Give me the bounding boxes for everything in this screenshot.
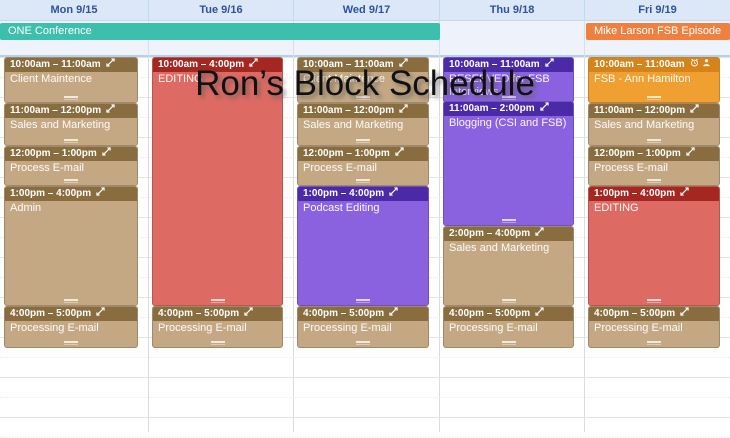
event-resize-handle[interactable] bbox=[647, 179, 661, 183]
event-header: 10:00am – 11:00am bbox=[589, 58, 719, 72]
event-time: 4:00pm – 5:00pm bbox=[10, 307, 91, 321]
recurring-icon bbox=[399, 104, 408, 118]
event-time: 11:00am – 12:00pm bbox=[10, 104, 101, 118]
event-icon-group bbox=[102, 147, 111, 161]
event-time: 10:00am – 11:00am bbox=[594, 58, 685, 72]
event-header: 4:00pm – 5:00pm bbox=[444, 307, 573, 321]
calendar-event-thu-reserved-fsb-interviews[interactable]: 10:00am – 11:00amRESERVED for FSB Interv… bbox=[443, 57, 574, 103]
recurring-icon bbox=[680, 187, 689, 201]
calendar-event-mon-processing-email[interactable]: 4:00pm – 5:00pmProcessing E-mail bbox=[4, 306, 138, 348]
day-header-3[interactable]: Thu 9/18 bbox=[439, 0, 584, 20]
event-resize-handle[interactable] bbox=[64, 341, 78, 345]
event-title: Processing E-mail bbox=[5, 321, 137, 335]
event-title: Blogging (CSI and FSB) bbox=[444, 116, 573, 130]
calendar-event-wed-process-email[interactable]: 12:00pm – 1:00pmProcess E-mail bbox=[297, 146, 429, 186]
event-title: Processing E-mail bbox=[589, 321, 719, 335]
event-time: 10:00am – 11:00am bbox=[449, 58, 540, 72]
calendar-event-tue-editing[interactable]: 10:00am – 4:00pmEDITING bbox=[152, 57, 283, 306]
event-resize-handle[interactable] bbox=[356, 139, 370, 143]
event-icon-group bbox=[680, 187, 689, 201]
event-time: 10:00am – 4:00pm bbox=[158, 58, 244, 72]
event-icon-group bbox=[540, 102, 549, 116]
day-header-label: Fri 9/19 bbox=[638, 4, 677, 16]
event-time: 1:00pm – 4:00pm bbox=[594, 187, 675, 201]
calendar-event-mon-client-maintence[interactable]: 10:00am – 11:00amClient Maintence bbox=[4, 57, 138, 103]
event-resize-handle[interactable] bbox=[64, 96, 78, 100]
day-header-row: Mon 9/15Tue 9/16Wed 9/17Thu 9/18Fri 9/19 bbox=[0, 0, 730, 21]
half-hour-gridline bbox=[0, 397, 730, 398]
calendar-event-mon-sales-and-marketing[interactable]: 11:00am – 12:00pmSales and Marketing bbox=[4, 103, 138, 146]
event-resize-handle[interactable] bbox=[64, 299, 78, 303]
event-resize-handle[interactable] bbox=[647, 139, 661, 143]
event-header: 4:00pm – 5:00pm bbox=[153, 307, 282, 321]
event-icon-group bbox=[389, 187, 398, 201]
event-header: 4:00pm – 5:00pm bbox=[298, 307, 428, 321]
time-grid: 10:00am – 11:00amClient Maintence11:00am… bbox=[0, 57, 730, 432]
event-time: 11:00am – 12:00pm bbox=[594, 104, 685, 118]
day-header-4[interactable]: Fri 9/19 bbox=[584, 0, 730, 20]
event-icon-group bbox=[545, 58, 554, 72]
event-time: 10:00am – 11:00am bbox=[10, 58, 101, 72]
event-title: Sales and Marketing bbox=[5, 118, 137, 132]
day-header-label: Thu 9/18 bbox=[490, 4, 535, 16]
event-resize-handle[interactable] bbox=[64, 179, 78, 183]
event-resize-handle[interactable] bbox=[647, 341, 661, 345]
event-icon-group bbox=[690, 104, 699, 118]
event-title: Process E-mail bbox=[589, 161, 719, 175]
calendar-event-fri-sales-and-marketing[interactable]: 11:00am – 12:00pmSales and Marketing bbox=[588, 103, 720, 146]
event-time: 4:00pm – 5:00pm bbox=[449, 307, 530, 321]
alarm-clock-icon bbox=[690, 58, 699, 72]
week-calendar: Mon 9/15Tue 9/16Wed 9/17Thu 9/18Fri 9/19… bbox=[0, 0, 730, 432]
event-resize-handle[interactable] bbox=[64, 139, 78, 143]
day-header-label: Tue 9/16 bbox=[199, 4, 242, 16]
event-header: 4:00pm – 5:00pm bbox=[589, 307, 719, 321]
event-time: 12:00pm – 1:00pm bbox=[594, 147, 681, 161]
event-title: Podcast Editing bbox=[298, 201, 428, 215]
event-title: Sales and Marketing bbox=[444, 241, 573, 255]
event-time: 1:00pm – 4:00pm bbox=[303, 187, 384, 201]
event-time: 12:00pm – 1:00pm bbox=[10, 147, 97, 161]
event-header: 11:00am – 12:00pm bbox=[589, 104, 719, 118]
recurring-icon bbox=[535, 227, 544, 241]
event-time: 12:00pm – 1:00pm bbox=[303, 147, 390, 161]
all-day-band: ONE ConferenceMike Larson FSB Episode bbox=[0, 21, 730, 57]
event-icon-group bbox=[680, 307, 689, 321]
day-header-2[interactable]: Wed 9/17 bbox=[293, 0, 439, 20]
event-title: Client Maintence bbox=[5, 72, 137, 86]
event-resize-handle[interactable] bbox=[356, 299, 370, 303]
event-icon-group bbox=[249, 58, 258, 72]
event-header: 1:00pm – 4:00pm bbox=[298, 187, 428, 201]
event-icon-group bbox=[690, 58, 711, 72]
recurring-icon bbox=[106, 104, 115, 118]
event-time: 11:00am – 12:00pm bbox=[303, 104, 394, 118]
event-title: Processing E-mail bbox=[444, 321, 573, 335]
event-resize-handle[interactable] bbox=[502, 299, 516, 303]
event-resize-handle[interactable] bbox=[502, 219, 516, 223]
event-resize-handle[interactable] bbox=[647, 96, 661, 100]
hour-gridline bbox=[0, 377, 730, 378]
calendar-event-fri-fsb-ann-hamilton[interactable]: 10:00am – 11:00amFSB - Ann Hamilton bbox=[588, 57, 720, 103]
event-header: 1:00pm – 4:00pm bbox=[589, 187, 719, 201]
event-header: 12:00pm – 1:00pm bbox=[589, 147, 719, 161]
event-header: 2:00pm – 4:00pm bbox=[444, 227, 573, 241]
event-time: 11:00am – 2:00pm bbox=[449, 102, 535, 116]
day-header-0[interactable]: Mon 9/15 bbox=[0, 0, 148, 20]
event-icon-group bbox=[96, 307, 105, 321]
event-icon-group bbox=[244, 307, 253, 321]
recurring-icon bbox=[102, 147, 111, 161]
event-time: 4:00pm – 5:00pm bbox=[158, 307, 239, 321]
recurring-icon bbox=[96, 307, 105, 321]
event-resize-handle[interactable] bbox=[356, 96, 370, 100]
all-day-event-label: ONE Conference bbox=[8, 25, 92, 37]
event-time: 4:00pm – 5:00pm bbox=[303, 307, 384, 321]
calendar-event-fri-process-email[interactable]: 12:00pm – 1:00pmProcess E-mail bbox=[588, 146, 720, 186]
recurring-icon bbox=[690, 104, 699, 118]
event-title: EDITING bbox=[589, 201, 719, 215]
event-header: 1:00pm – 4:00pm bbox=[5, 187, 137, 201]
calendar-event-thu-blogging[interactable]: 11:00am – 2:00pmBlogging (CSI and FSB) bbox=[443, 101, 574, 226]
event-resize-handle[interactable] bbox=[211, 341, 225, 345]
event-header: 4:00pm – 5:00pm bbox=[5, 307, 137, 321]
event-title: Process E-mail bbox=[298, 161, 428, 175]
recurring-icon bbox=[244, 307, 253, 321]
recurring-icon bbox=[680, 307, 689, 321]
event-time: 4:00pm – 5:00pm bbox=[594, 307, 675, 321]
event-title: Sales and Marketing bbox=[589, 118, 719, 132]
recurring-icon bbox=[96, 187, 105, 201]
calendar-event-fri-editing[interactable]: 1:00pm – 4:00pmEDITING bbox=[588, 186, 720, 306]
event-icon-group bbox=[535, 227, 544, 241]
all-day-event-one-conference[interactable]: ONE Conference bbox=[0, 23, 440, 40]
all-day-event-label: Mike Larson FSB Episode bbox=[594, 25, 721, 37]
event-icon-group bbox=[96, 187, 105, 201]
calendar-event-wed-processing-email[interactable]: 4:00pm – 5:00pmProcessing E-mail bbox=[297, 306, 429, 348]
calendar-event-fri-processing-email[interactable]: 4:00pm – 5:00pmProcessing E-mail bbox=[588, 306, 720, 348]
day-header-label: Wed 9/17 bbox=[343, 4, 391, 16]
all-day-event-mike-larson-fsb-episode[interactable]: Mike Larson FSB Episode bbox=[586, 23, 730, 40]
recurring-icon bbox=[540, 102, 549, 116]
event-header: 12:00pm – 1:00pm bbox=[5, 147, 137, 161]
event-header: 11:00am – 2:00pm bbox=[444, 102, 573, 116]
event-header: 10:00am – 11:00am bbox=[298, 58, 428, 72]
half-hour-gridline bbox=[0, 357, 730, 358]
event-resize-handle[interactable] bbox=[356, 179, 370, 183]
calendar-event-mon-process-email[interactable]: 12:00pm – 1:00pmProcess E-mail bbox=[4, 146, 138, 186]
event-title: RESERVED for FSB Interviews bbox=[444, 72, 573, 99]
event-resize-handle[interactable] bbox=[502, 96, 516, 100]
calendar-event-wed-sales-and-marketing[interactable]: 11:00am – 12:00pmSales and Marketing bbox=[297, 103, 429, 146]
recurring-icon bbox=[249, 58, 258, 72]
event-header: 10:00am – 11:00am bbox=[5, 58, 137, 72]
calendar-event-thu-sales-and-marketing[interactable]: 2:00pm – 4:00pmSales and Marketing bbox=[443, 226, 574, 306]
event-time: 1:00pm – 4:00pm bbox=[10, 187, 91, 201]
day-header-1[interactable]: Tue 9/16 bbox=[148, 0, 293, 20]
calendar-event-thu-processing-email[interactable]: 4:00pm – 5:00pmProcessing E-mail bbox=[443, 306, 574, 348]
event-header: 12:00pm – 1:00pm bbox=[298, 147, 428, 161]
event-icon-group bbox=[106, 104, 115, 118]
event-header: 11:00am – 12:00pm bbox=[298, 104, 428, 118]
event-header: 11:00am – 12:00pm bbox=[5, 104, 137, 118]
event-title: Client Maintence bbox=[298, 72, 428, 86]
calendar-event-wed-client-maintence[interactable]: 10:00am – 11:00amClient Maintence bbox=[297, 57, 429, 103]
recurring-icon bbox=[389, 187, 398, 201]
recurring-icon bbox=[389, 307, 398, 321]
event-icon-group bbox=[395, 147, 404, 161]
calendar-event-wed-podcast-editing[interactable]: 1:00pm – 4:00pmPodcast Editing bbox=[297, 186, 429, 306]
recurring-icon bbox=[399, 58, 408, 72]
recurring-icon bbox=[535, 307, 544, 321]
event-title: EDITING bbox=[153, 72, 282, 86]
event-time: 2:00pm – 4:00pm bbox=[449, 227, 530, 241]
event-title: Processing E-mail bbox=[153, 321, 282, 335]
hour-gridline bbox=[0, 417, 730, 418]
event-icon-group bbox=[686, 147, 695, 161]
recurring-icon bbox=[545, 58, 554, 72]
event-resize-handle[interactable] bbox=[647, 299, 661, 303]
event-header: 10:00am – 4:00pm bbox=[153, 58, 282, 72]
event-title: Sales and Marketing bbox=[298, 118, 428, 132]
event-icon-group bbox=[535, 307, 544, 321]
event-title: Process E-mail bbox=[5, 161, 137, 175]
event-icon-group bbox=[389, 307, 398, 321]
recurring-icon bbox=[106, 58, 115, 72]
calendar-event-mon-admin[interactable]: 1:00pm – 4:00pmAdmin bbox=[4, 186, 138, 306]
event-resize-handle[interactable] bbox=[356, 341, 370, 345]
event-title: Admin bbox=[5, 201, 137, 215]
event-resize-handle[interactable] bbox=[502, 341, 516, 345]
event-title: Processing E-mail bbox=[298, 321, 428, 335]
event-header: 10:00am – 11:00am bbox=[444, 58, 573, 72]
event-title: FSB - Ann Hamilton bbox=[589, 72, 719, 86]
event-icon-group bbox=[106, 58, 115, 72]
day-header-label: Mon 9/15 bbox=[50, 4, 97, 16]
guest-person-icon bbox=[702, 58, 711, 72]
event-icon-group bbox=[399, 104, 408, 118]
event-time: 10:00am – 11:00am bbox=[303, 58, 394, 72]
event-icon-group bbox=[399, 58, 408, 72]
event-resize-handle[interactable] bbox=[211, 299, 225, 303]
recurring-icon bbox=[395, 147, 404, 161]
all-day-cell-3[interactable] bbox=[439, 21, 584, 57]
calendar-event-tue-processing-email[interactable]: 4:00pm – 5:00pmProcessing E-mail bbox=[152, 306, 283, 348]
recurring-icon bbox=[686, 147, 695, 161]
